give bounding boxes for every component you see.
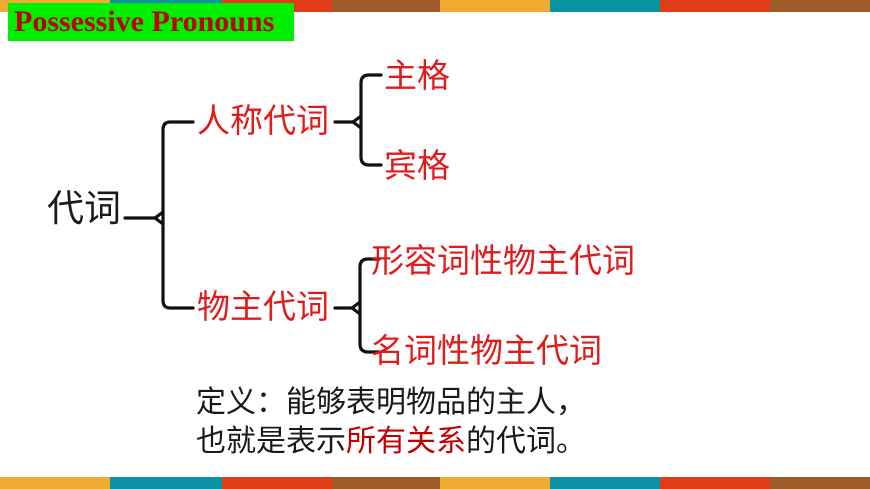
stripe-segment-7 — [660, 477, 770, 489]
tree-node-objective-case: 宾格 — [384, 149, 450, 182]
stripe-segment-4 — [332, 477, 440, 489]
tree-node-adjective-possessive: 形容词性物主代词 — [371, 244, 635, 277]
stripe-segment-5 — [440, 477, 550, 489]
tree-node-root: 代词 — [47, 190, 121, 227]
definition-line-2-before: 也就是表示 — [196, 424, 346, 459]
stripe-segment-8 — [770, 477, 870, 489]
definition-block: 定义：能够表明物品的主人， 也就是表示所有关系的代词。 — [196, 383, 586, 461]
stripe-segment-2 — [110, 477, 222, 489]
definition-line-1: 定义：能够表明物品的主人， — [196, 383, 586, 422]
stripe-segment-6 — [550, 477, 660, 489]
stripe-segment-3 — [222, 477, 332, 489]
definition-highlight: 所有关系 — [346, 424, 466, 459]
tree-node-possessive-pronoun: 物主代词 — [197, 290, 329, 323]
stripe-segment-1 — [0, 477, 110, 489]
tree-node-nominal-possessive: 名词性物主代词 — [371, 334, 602, 367]
tree-node-personal-pronoun: 人称代词 — [197, 104, 329, 137]
tree-node-subjective-case: 主格 — [384, 59, 450, 92]
definition-line-2-after: 的代词。 — [466, 424, 586, 459]
bottom-stripe-bar — [0, 477, 870, 489]
definition-line-2: 也就是表示所有关系的代词。 — [196, 422, 586, 461]
